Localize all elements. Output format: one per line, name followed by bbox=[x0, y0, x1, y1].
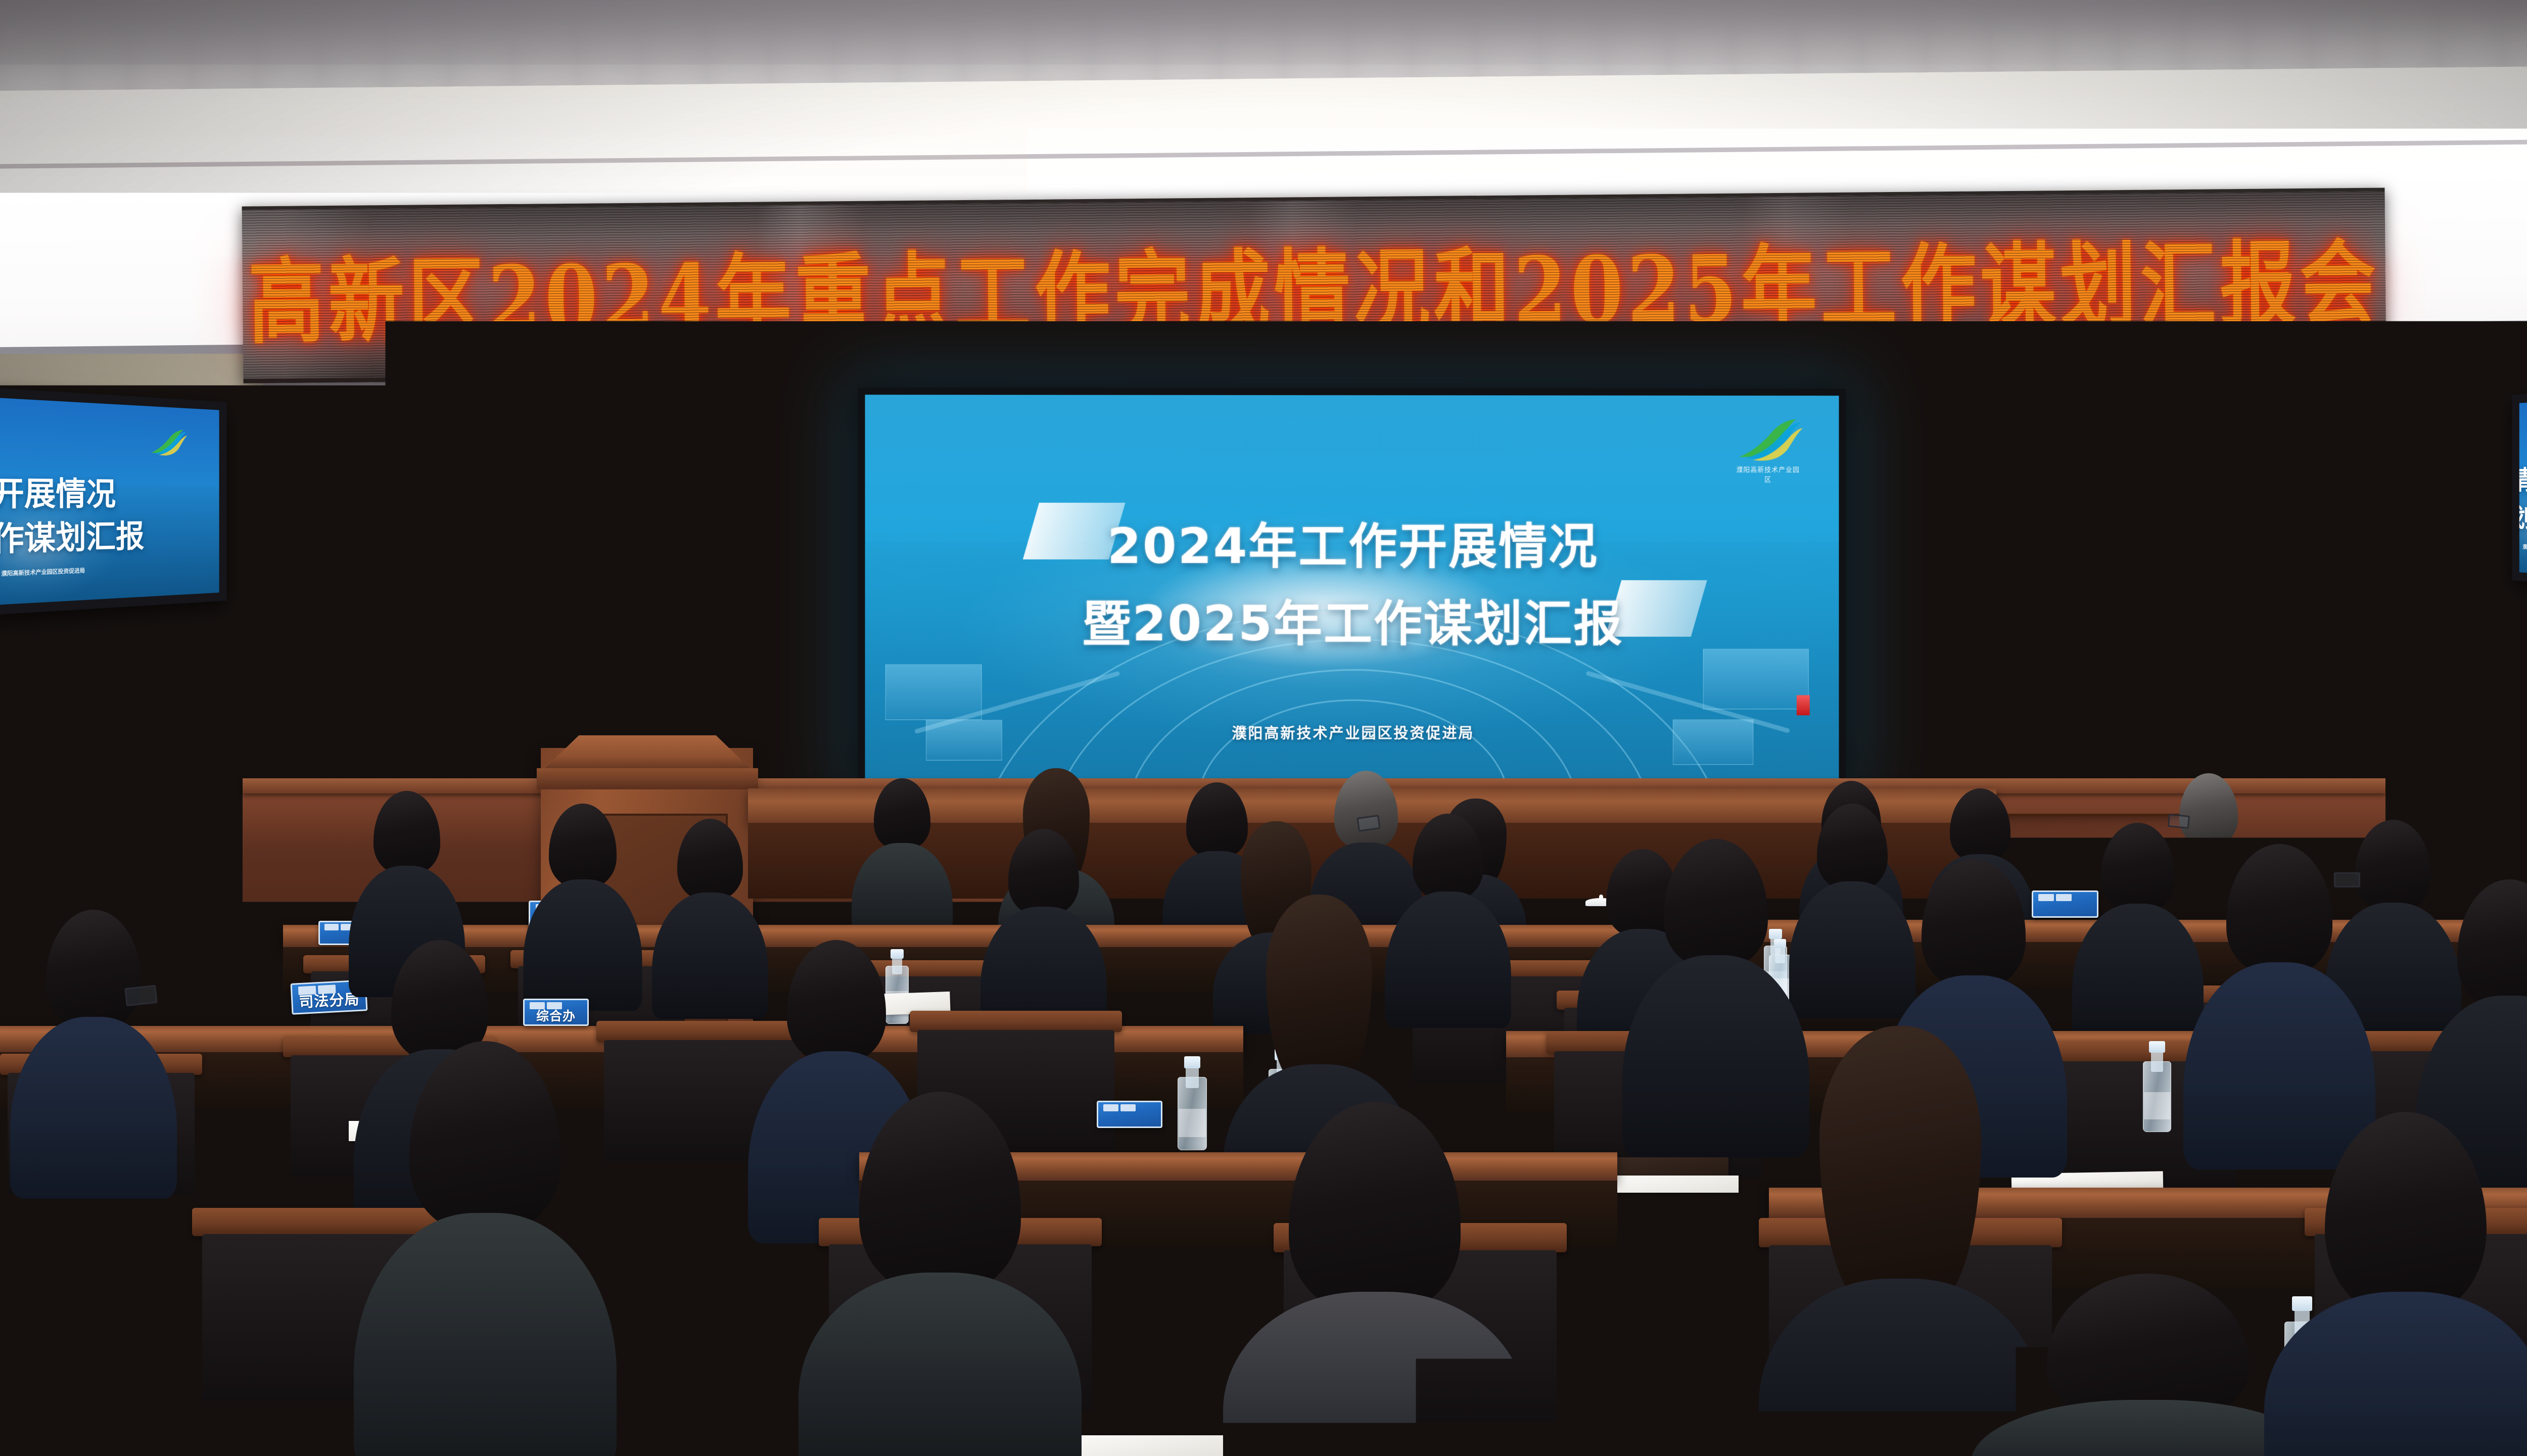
screen-logo-caption: 濮阳高新技术产业园区 bbox=[1733, 464, 1802, 483]
head bbox=[2457, 879, 2527, 1009]
podium-microphone-head bbox=[664, 705, 672, 713]
head bbox=[549, 804, 617, 888]
main-projection-screen[interactable]: 濮阳高新技术产业园区 2024年工作开展情况 暨2025年工作谋划汇报 濮阳高新… bbox=[858, 388, 1846, 788]
head bbox=[1819, 1026, 1981, 1309]
attendee-r4-3-hoodie bbox=[1223, 1102, 1526, 1456]
attendee-r3-1-glasses bbox=[10, 910, 177, 1193]
head bbox=[2101, 823, 2175, 913]
side-monitor-left[interactable]: 工作开展情况 年工作谋划汇报 濮阳高新技术产业园区投资促进局 bbox=[0, 388, 226, 616]
head bbox=[2325, 1112, 2487, 1314]
attendee-r4-1 bbox=[354, 1041, 617, 1456]
led-banner-housing: 高新区2024年重点工作完成情况和2025年工作谋划汇报会 bbox=[242, 188, 2386, 384]
bottle-cap bbox=[1680, 1309, 1700, 1324]
head bbox=[677, 819, 743, 901]
nameplate-blank-4 bbox=[1097, 1101, 1162, 1128]
shoulders bbox=[1223, 1292, 1526, 1456]
bottle-label bbox=[2144, 1092, 2171, 1119]
head bbox=[874, 778, 930, 850]
nameplate-logos bbox=[530, 1002, 562, 1009]
shoulders bbox=[2264, 1292, 2527, 1456]
head bbox=[1950, 788, 2010, 862]
main-screen-title-block: 2024年工作开展情况 暨2025年工作谋划汇报 bbox=[865, 507, 1839, 655]
screen-red-marker bbox=[1797, 695, 1810, 715]
green-bird-wing-logo bbox=[148, 421, 188, 464]
head bbox=[1266, 895, 1372, 1087]
city-building-1 bbox=[885, 664, 982, 720]
nameplate-logos bbox=[1103, 1104, 1136, 1111]
water-bottle-r3-1 bbox=[1178, 1056, 1207, 1150]
main-screen-surface: 濮阳高新技术产业园区 2024年工作开展情况 暨2025年工作谋划汇报 濮阳高新… bbox=[865, 395, 1839, 781]
bottle-label bbox=[1674, 1371, 1706, 1404]
attendee-r2-4 bbox=[980, 829, 1107, 1031]
head bbox=[1008, 829, 1079, 916]
attendee-r1-1 bbox=[852, 778, 953, 940]
water-bottle-r4-1 bbox=[1673, 1309, 1707, 1420]
side-monitor-right[interactable]: 工作开展情况 年工作谋划汇报 濮阳高新技术产业园区投资促进局 bbox=[2512, 383, 2527, 593]
left-monitor-title-line-1: 工作开展情况 bbox=[0, 465, 219, 515]
attendee-foreground-cut bbox=[581, 1314, 884, 1456]
bottle-cap bbox=[1184, 1056, 1200, 1068]
led-banner-text: 高新区2024年重点工作完成情况和2025年工作谋划汇报会 bbox=[242, 173, 2386, 397]
head bbox=[1413, 814, 1483, 901]
main-screen-title-line-2: 暨2025年工作谋划汇报 bbox=[1082, 595, 1623, 652]
glasses bbox=[124, 985, 157, 1006]
head bbox=[1817, 804, 1888, 890]
city-building-3 bbox=[1703, 649, 1809, 710]
main-screen-footer-text: 濮阳高新技术产业园区投资促进局 bbox=[865, 721, 1839, 743]
main-screen-title-row-1: 2024年工作开展情况 bbox=[1107, 507, 1599, 577]
head bbox=[1664, 839, 1768, 968]
head bbox=[373, 791, 440, 875]
head bbox=[409, 1041, 561, 1233]
main-screen-title-row-2: 暨2025年工作谋划汇报 bbox=[1082, 584, 1623, 654]
right-monitor-title-line-1: 工作开展情况 bbox=[2519, 456, 2527, 498]
attendee-r3-7 bbox=[2183, 844, 2375, 1157]
shoulders bbox=[354, 1213, 617, 1456]
ceiling-dome-camera bbox=[1277, 380, 1330, 415]
head bbox=[1289, 1102, 1461, 1314]
main-screen-title-line-1: 2024年工作开展情况 bbox=[1107, 518, 1599, 575]
head bbox=[1922, 859, 2026, 989]
shoulders bbox=[10, 1017, 177, 1199]
bottle-cap bbox=[2149, 1041, 2165, 1053]
head bbox=[859, 1092, 1021, 1294]
bottle-label bbox=[1179, 1109, 1206, 1137]
nameplate-zongheban: 综合办 bbox=[523, 999, 589, 1026]
left-monitor-surface: 工作开展情况 年工作谋划汇报 濮阳高新技术产业园区投资促进局 bbox=[0, 398, 219, 605]
chair-rail-r3-4 bbox=[910, 1011, 1122, 1032]
attendee-r4-6-updo bbox=[2264, 1112, 2527, 1456]
head bbox=[2226, 844, 2332, 975]
water-bottle-r3-4 bbox=[2143, 1041, 2171, 1132]
shoulders bbox=[581, 1314, 884, 1456]
right-monitor-title-line-2: 年工作谋划汇报 bbox=[2519, 496, 2527, 539]
attendee-r2-2 bbox=[523, 804, 642, 1006]
green-bird-wing-logo bbox=[1733, 418, 1802, 464]
head bbox=[787, 940, 886, 1063]
shoulders bbox=[523, 879, 642, 1011]
head bbox=[46, 910, 141, 1029]
camera-lens-dome bbox=[1293, 386, 1315, 412]
right-monitor-surface: 工作开展情况 年工作谋划汇报 濮阳高新技术产业园区投资促进局 bbox=[2519, 393, 2527, 582]
conference-room-scene: 高新区2024年重点工作完成情况和2025年工作谋划汇报会 bbox=[0, 0, 2527, 1456]
wall-light-switch[interactable] bbox=[2329, 677, 2342, 695]
podium-molding bbox=[537, 768, 758, 789]
